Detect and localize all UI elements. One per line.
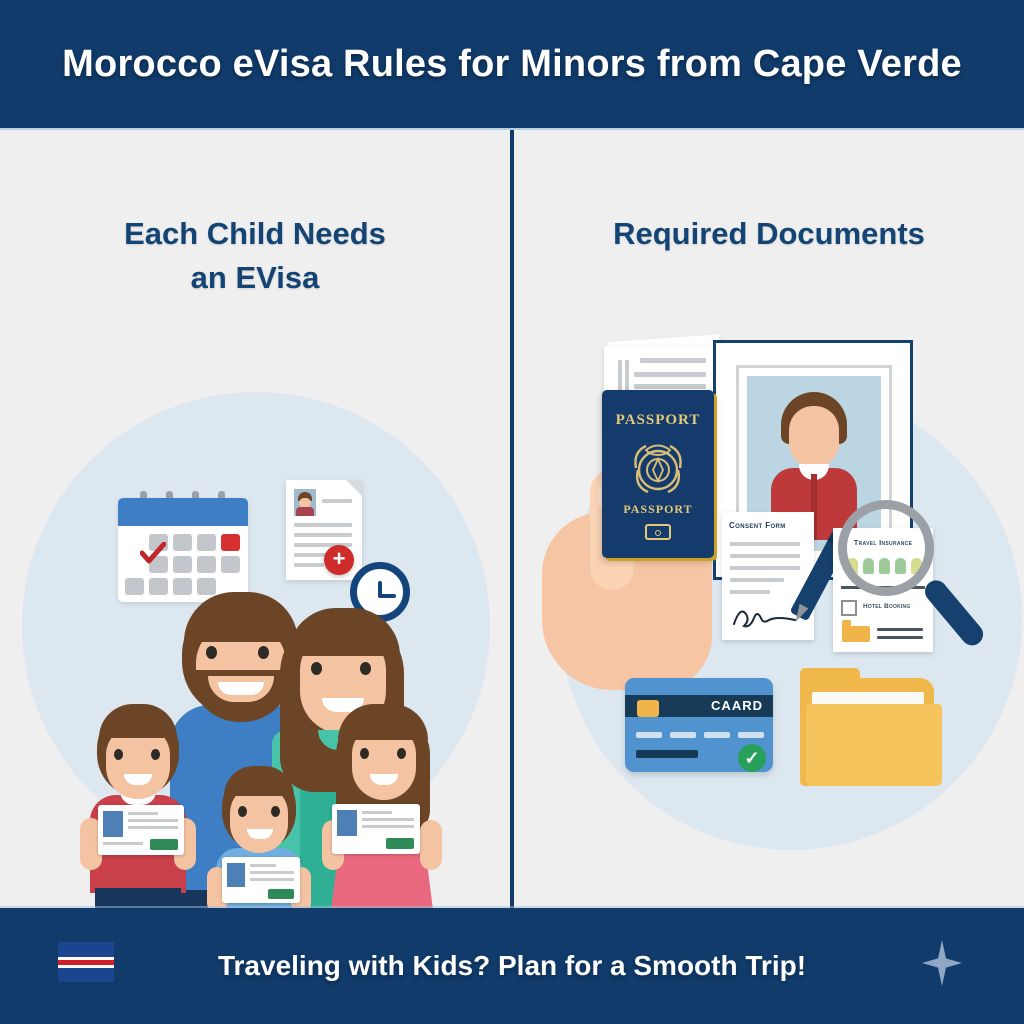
credit-card-label: CAARD <box>711 698 763 713</box>
calendar-cell <box>173 578 192 595</box>
consent-form-document: Consent Form <box>722 512 814 640</box>
credit-card-bar <box>636 750 698 758</box>
verified-check-icon: ✓ <box>738 744 766 772</box>
evisa-card-badge <box>386 838 414 849</box>
calendar-cell <box>173 534 192 551</box>
signature-mark <box>730 602 800 632</box>
biometric-chip-icon <box>645 524 671 540</box>
passport-icon: PASSPORT PASSPORT <box>602 390 714 558</box>
left-panel-heading-line1: Each Child Needs <box>0 212 510 256</box>
calendar-cell <box>125 578 144 595</box>
calendar-cell <box>221 556 240 573</box>
boy-left-eye <box>114 749 123 760</box>
cape-verde-flag-icon <box>58 942 114 982</box>
add-plus-badge-icon: + <box>324 545 354 575</box>
evisa-card-badge <box>150 839 178 850</box>
content-area: Each Child Needs an EVisa <box>0 130 1024 908</box>
calendar-cell <box>197 534 216 551</box>
boy-center-eye <box>271 806 280 817</box>
panel-required-documents: Required Documents <box>514 130 1024 908</box>
panel-each-child-needs-evisa: Each Child Needs an EVisa <box>0 130 510 908</box>
evisa-card <box>332 804 420 854</box>
calendar-cell <box>173 556 192 573</box>
calendar-cell <box>197 578 216 595</box>
evisa-card <box>222 857 300 903</box>
calendar-header <box>118 498 248 526</box>
calendar-cell <box>197 556 216 573</box>
calendar-cell-highlight <box>221 534 240 551</box>
infographic-page: Morocco eVisa Rules for Minors from Cape… <box>0 0 1024 1024</box>
father-eye <box>258 646 269 659</box>
evisa-card-badge <box>268 889 294 899</box>
evisa-card-photo <box>337 810 357 836</box>
document-fold-corner <box>346 480 362 496</box>
header-banner: Morocco eVisa Rules for Minors from Cape… <box>0 0 1024 128</box>
passport-label: PASSPORT <box>602 412 714 429</box>
footer-banner: Traveling with Kids? Plan for a Smooth T… <box>0 908 1024 1024</box>
left-panel-heading-line2: an EVisa <box>0 256 510 300</box>
boy-left-shorts <box>95 888 181 908</box>
calendar-cell <box>149 578 168 595</box>
mother-eye <box>360 662 371 675</box>
girl-eye <box>360 748 369 759</box>
panel-divider <box>510 130 514 908</box>
left-panel-heading: Each Child Needs an EVisa <box>0 212 510 300</box>
passport-sublabel: PASSPORT <box>602 502 714 517</box>
credit-card-icon: CAARD ✓ <box>625 678 773 772</box>
hotel-booking-label: Hotel Booking <box>863 603 910 610</box>
girl-eye <box>397 748 406 759</box>
bed-icon <box>842 626 870 642</box>
hotel-booking-checkbox[interactable] <box>841 600 857 616</box>
credit-card-chip <box>637 700 659 717</box>
photo-person-face <box>789 406 839 468</box>
girl-arm <box>420 820 442 870</box>
magnifying-glass-icon <box>838 500 934 596</box>
mother-eye <box>311 662 322 675</box>
page-title: Morocco eVisa Rules for Minors from Cape… <box>62 43 962 86</box>
evisa-card-photo <box>103 811 123 837</box>
evisa-card-photo <box>227 863 245 887</box>
footer-tagline: Traveling with Kids? Plan for a Smooth T… <box>218 950 806 982</box>
father-eye <box>206 646 217 659</box>
father-smile <box>218 682 264 695</box>
calendar-checkmark-icon <box>140 542 166 564</box>
right-panel-heading: Required Documents <box>514 212 1024 256</box>
consent-form-title: Consent Form <box>729 521 786 530</box>
boy-center-eye <box>238 806 247 817</box>
folder-front <box>806 704 942 786</box>
document-photo <box>294 489 316 516</box>
boy-left-eye <box>151 749 160 760</box>
passport-emblem-icon <box>630 434 686 496</box>
evisa-card <box>98 805 184 855</box>
